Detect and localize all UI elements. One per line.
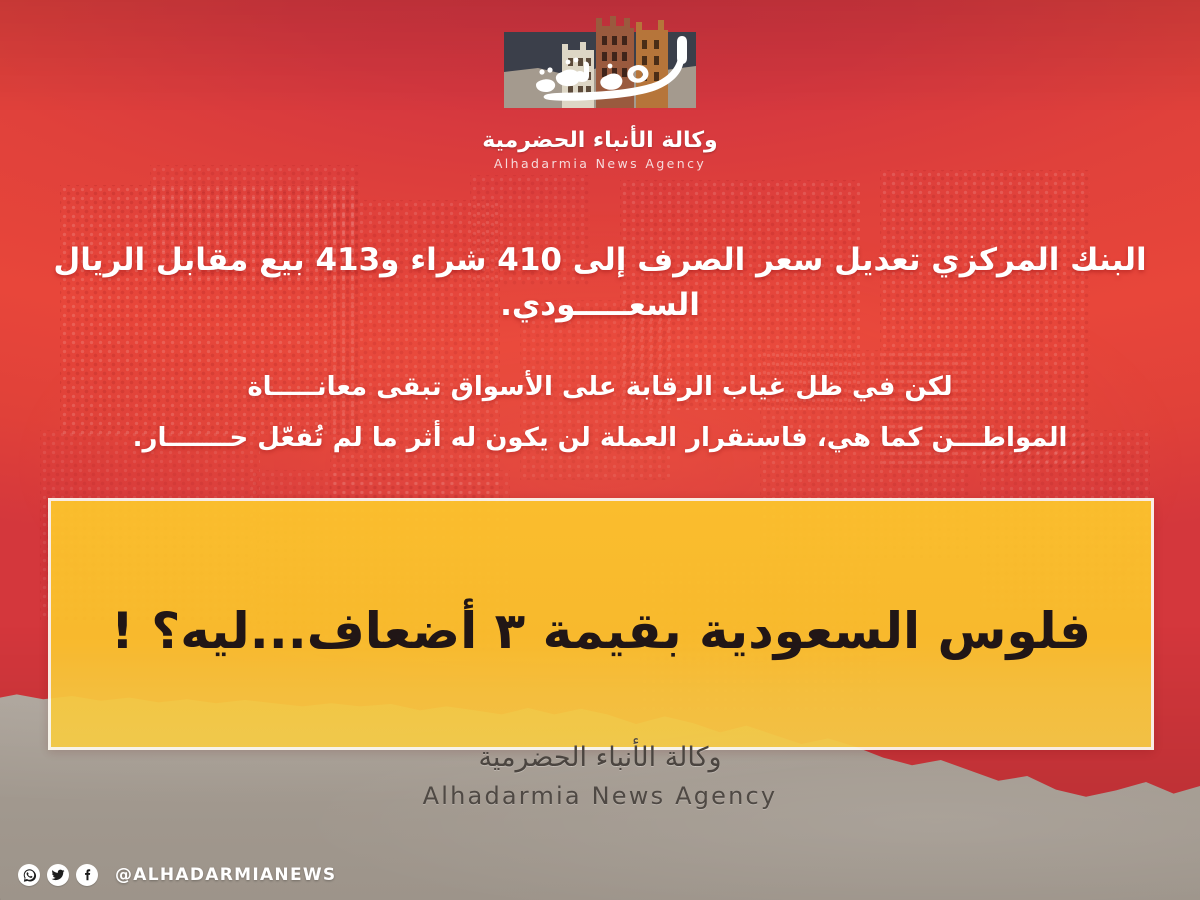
brand-name-arabic: وكالة الأنباء الحضرمية [0, 128, 1200, 153]
callout-text: فلوس السعودية بقيمة ٣ أضعاف...ليه؟ ! [71, 599, 1131, 677]
article-body: البنك المركزي تعديل سعر الصرف إلى 410 شر… [52, 238, 1148, 458]
footer-agency-english: Alhadarmia News Agency [0, 782, 1200, 810]
callout-banner: فلوس السعودية بقيمة ٣ أضعاف...ليه؟ ! [48, 498, 1154, 750]
twitter-icon[interactable] [47, 864, 69, 886]
article-headline: البنك المركزي تعديل سعر الصرف إلى 410 شر… [52, 238, 1148, 328]
article-paragraph-1: لكن في ظل غياب الرقابة على الأسواق تبقى … [52, 368, 1148, 407]
brand-logo: وكالة الأنباء الحضرمية Alhadarmia News A… [0, 6, 1200, 171]
brand-name-english: Alhadarmia News Agency [0, 156, 1200, 171]
article-paragraph-2: المواطـــن كما هي، فاستقرار العملة لن يك… [52, 419, 1148, 458]
whatsapp-icon[interactable] [18, 864, 40, 886]
footer-agency-arabic: وكالة الأنباء الحضرمية [0, 742, 1200, 773]
news-card: وكالة الأنباء الحضرمية Alhadarmia News A… [0, 0, 1200, 900]
social-links: @ALHADARMIANEWS [18, 864, 336, 886]
logo-mark-icon [498, 6, 702, 118]
card-footer: وكالة الأنباء الحضرمية Alhadarmia News A… [0, 720, 1200, 900]
facebook-icon[interactable] [76, 864, 98, 886]
social-handle[interactable]: @ALHADARMIANEWS [115, 865, 336, 885]
